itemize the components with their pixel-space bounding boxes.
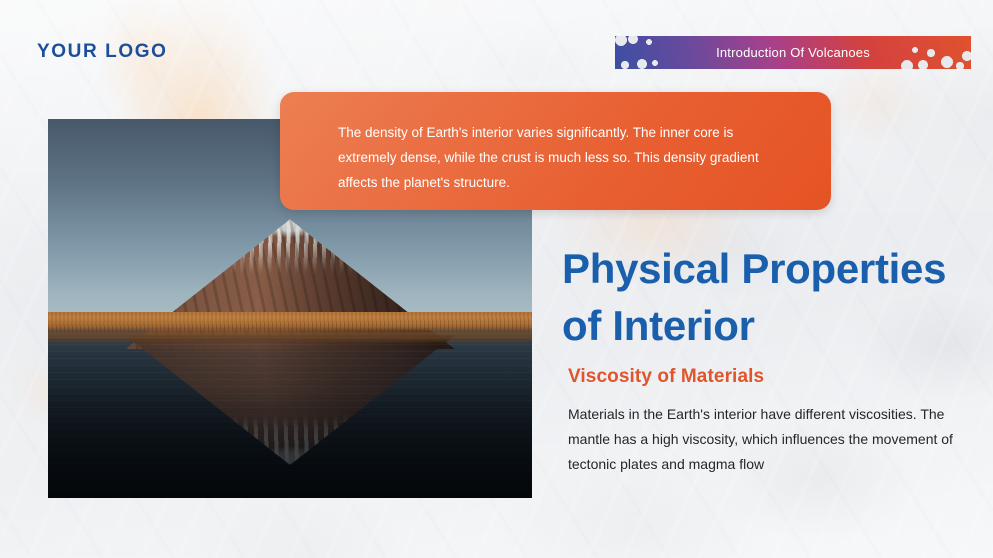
callout-card: The density of Earth's interior varies s… [280, 92, 831, 210]
section-body-text: Materials in the Earth's interior have d… [568, 402, 960, 477]
banner-label: Introduction Of Volcanoes [615, 36, 971, 69]
section-subtitle: Viscosity of Materials [568, 366, 764, 388]
callout-body-text: The density of Earth's interior varies s… [338, 120, 776, 195]
logo-text[interactable]: YOUR LOGO [37, 42, 168, 61]
section-banner: Introduction Of Volcanoes [615, 36, 971, 69]
page-title: Physical Properties of Interior [562, 240, 972, 354]
photo-water-shading [48, 316, 532, 498]
slide-canvas: YOUR LOGO Introduction Of Volcanoes The … [0, 0, 993, 558]
